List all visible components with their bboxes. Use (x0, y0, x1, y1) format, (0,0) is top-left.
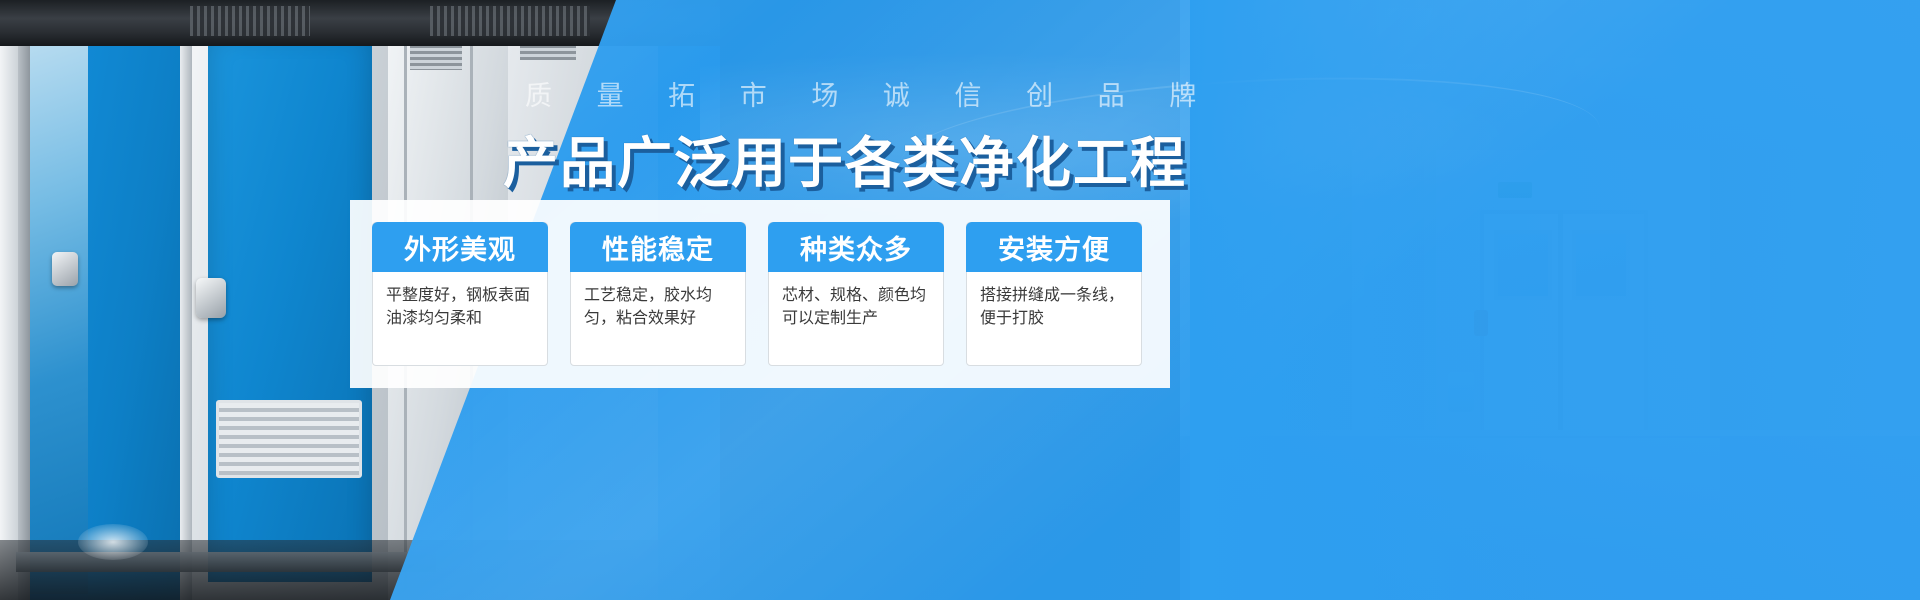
banner-subtitle: 质 量 拓 市 场 诚 信 创 品 牌 (525, 74, 1214, 113)
ceiling-vent-icon (190, 6, 310, 36)
cabin-base (16, 552, 436, 572)
feature-card-header: 种类众多 (768, 222, 944, 272)
banner-headline: 产品广泛用于各类净化工程 (503, 118, 1187, 198)
feature-card-header: 外形美观 (372, 222, 548, 272)
feature-card-title: 性能稳定 (602, 228, 714, 267)
cabin-frame-inner (18, 40, 30, 600)
feature-card-header: 安装方便 (966, 222, 1142, 272)
feature-card-body: 芯材、规格、颜色均可以定制生产 (769, 272, 943, 365)
feature-card-installation[interactable]: 安装方便 搭接拼缝成一条线，便于打胶 (966, 222, 1142, 366)
feature-card-body: 工艺稳定，胶水均匀，粘合效果好 (571, 272, 745, 365)
feature-card-variety[interactable]: 种类众多 芯材、规格、颜色均可以定制生产 (768, 222, 944, 366)
feature-card-title: 种类众多 (800, 228, 912, 267)
feature-card-body: 搭接拼缝成一条线，便于打胶 (967, 272, 1141, 365)
feature-cards-row: 外形美观 平整度好，钢板表面油漆均匀柔和 性能稳定 工艺稳定，胶水均匀，粘合效果… (372, 222, 1142, 366)
feature-card-title: 安装方便 (998, 228, 1110, 267)
cabin-frame-outer (0, 40, 18, 600)
door-handle-icon (196, 278, 226, 318)
door-louver-vent-icon (216, 400, 362, 478)
door-handle-icon (52, 252, 78, 286)
feature-card-performance[interactable]: 性能稳定 工艺稳定，胶水均匀，粘合效果好 (570, 222, 746, 366)
ceiling-vent-icon (430, 6, 590, 36)
feature-card-title: 外形美观 (404, 228, 516, 267)
promo-banner: 质 量 拓 市 场 诚 信 创 品 牌 产品广泛用于各类净化工程 外形美观 平整… (0, 0, 1920, 600)
feature-card-header: 性能稳定 (570, 222, 746, 272)
feature-card-appearance[interactable]: 外形美观 平整度好，钢板表面油漆均匀柔和 (372, 222, 548, 366)
cabin-blue-door (208, 34, 372, 582)
feature-card-body: 平整度好，钢板表面油漆均匀柔和 (373, 272, 547, 365)
floor-highlight (78, 524, 148, 560)
door-edge (180, 40, 192, 600)
cabin-blue-door-left (88, 40, 186, 600)
cabin-glass-panel (30, 46, 88, 594)
